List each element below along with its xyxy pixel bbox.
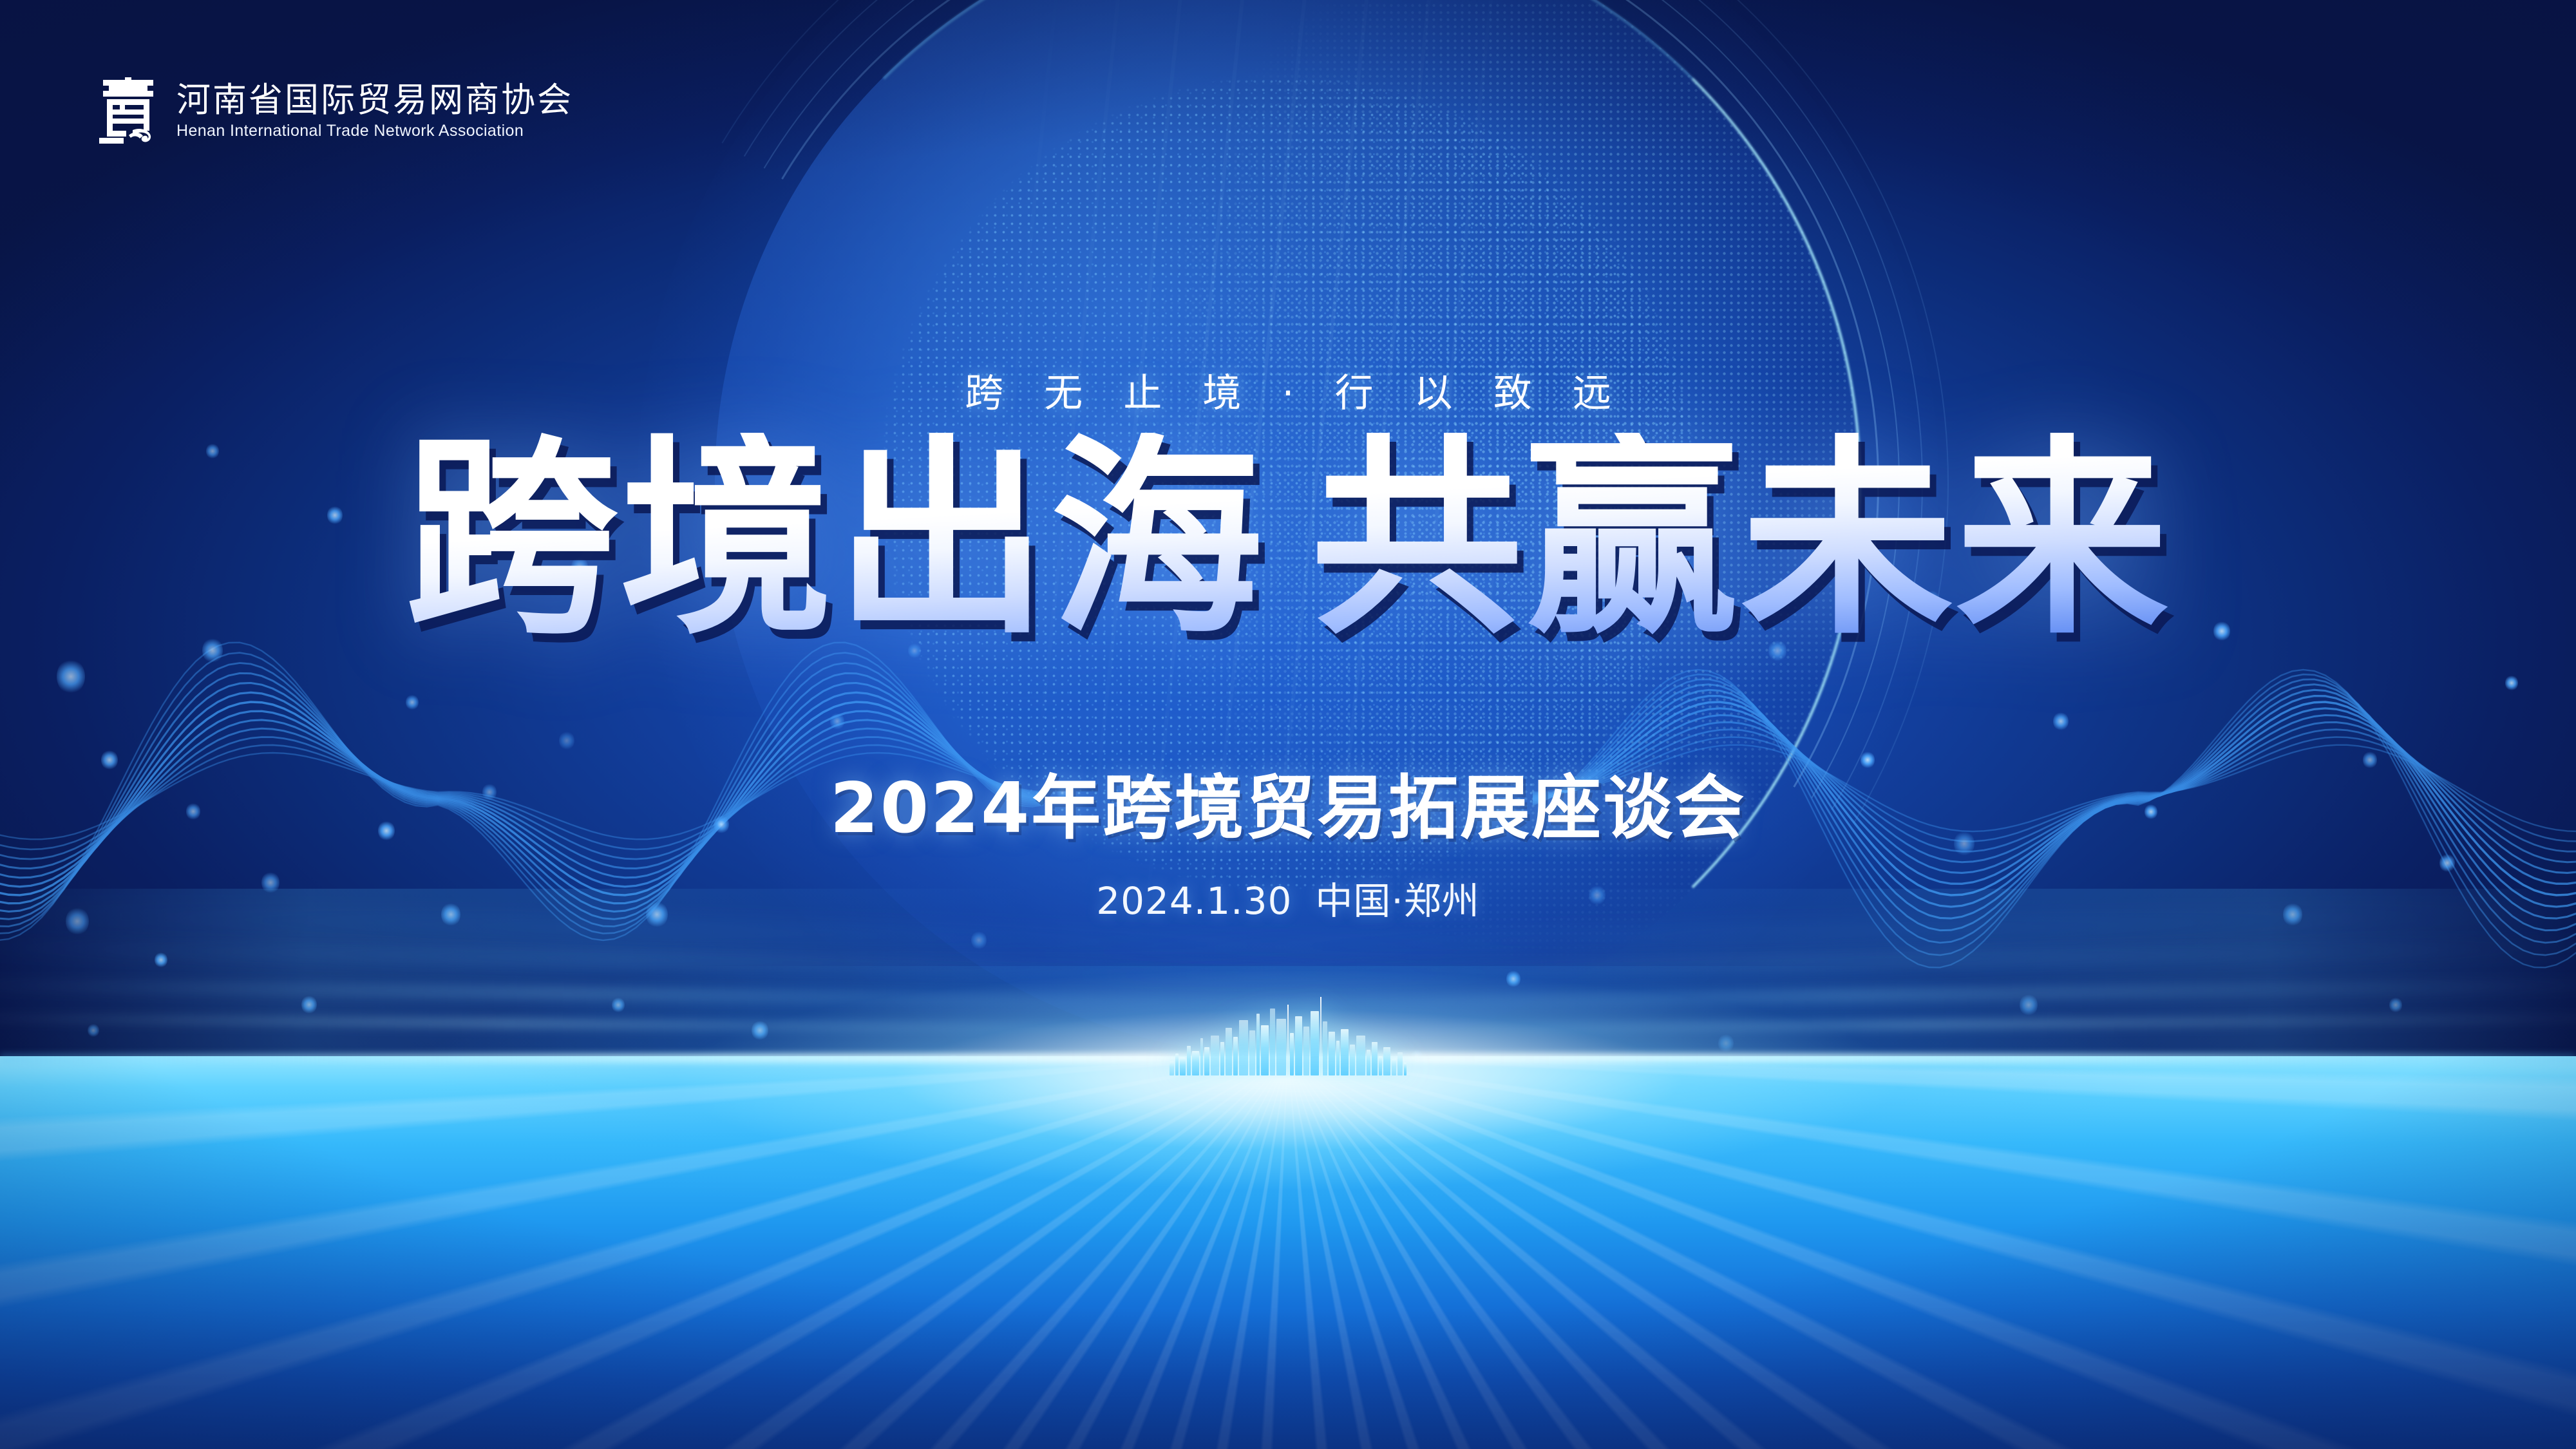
building [1200,1038,1203,1075]
building [1311,1011,1319,1075]
date-location-bar: 2024.1.30中国·郑州 [0,871,2576,925]
event-location: 中国·郑州 [1315,879,1479,923]
building [1392,1059,1396,1075]
building [1303,1027,1309,1075]
building [1356,1036,1365,1075]
building [1295,1016,1302,1075]
building [1336,1041,1340,1075]
building [1170,1061,1174,1075]
poster-canvas: 河南省国际贸易网商协会 Henan International Trade Ne… [0,0,2576,1449]
building [1261,1025,1269,1075]
building [1233,1037,1238,1075]
org-name-cn: 河南省国际贸易网商协会 [176,82,573,118]
building [1404,1063,1406,1075]
headline: 跨境出海共赢未来 [0,433,2576,645]
event-date: 2024.1.30 [1096,879,1292,923]
building [1256,1014,1260,1075]
building [1220,1042,1224,1075]
organization-logo[interactable]: 河南省国际贸易网商协会 Henan International Trade Ne… [97,76,573,147]
building [1372,1042,1378,1075]
headline-part2: 共赢未来 [1311,415,2171,663]
building [1192,1051,1199,1075]
building [1290,1033,1294,1075]
building [1180,1057,1186,1075]
building [1211,1036,1219,1075]
building [1226,1028,1232,1075]
building [1329,1032,1335,1075]
org-name-en: Henan International Trade Network Associ… [176,122,573,140]
building [1379,1056,1382,1075]
building [1187,1046,1191,1075]
building [1239,1020,1248,1075]
building [1341,1029,1349,1075]
city-skyline [1121,1005,1455,1075]
building [1249,1030,1255,1075]
building [1323,1021,1327,1075]
building [1383,1047,1390,1075]
building [1270,1009,1275,1075]
building [1204,1047,1209,1075]
building [1276,1019,1286,1075]
building-spire [1287,1005,1289,1075]
building [1350,1045,1355,1075]
building-spire [1320,997,1321,1075]
seal-emblem-icon [97,76,160,147]
building [1397,1052,1403,1075]
event-subtitle: 2024年跨境贸易拓展座谈会 [0,752,2576,853]
tagline: 跨 无 止 境 · 行 以 致 远 [0,362,2576,418]
building [1175,1054,1179,1075]
headline-part1: 跨境出海 [405,415,1265,663]
building [1367,1050,1370,1075]
